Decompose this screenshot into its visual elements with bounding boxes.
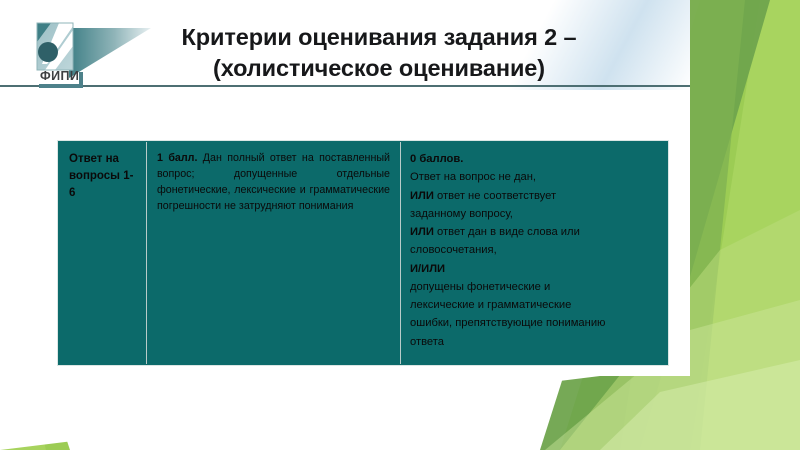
presentation-slide: ФИПИ Критерии оценивания задания 2 – (хо… xyxy=(0,0,800,450)
page-title: Критерии оценивания задания 2 – (холисти… xyxy=(96,22,662,85)
zero-points-line-text: ответ дан в виде слова или xyxy=(434,226,580,238)
zero-points-line-text: Ответ на вопрос не дан, xyxy=(410,171,536,183)
zero-points-line: Ответ на вопрос не дан, xyxy=(410,168,657,186)
zero-points-lead: 0 баллов. xyxy=(410,150,657,168)
criteria-table: Ответ на вопросы 1-6 1 балл. Дан полный … xyxy=(58,141,668,365)
zero-points-line: допущены фонетические и xyxy=(410,278,657,296)
logo-wordmark: ФИПИ xyxy=(40,69,79,83)
table-cell-question-scope: Ответ на вопросы 1-6 xyxy=(59,142,147,364)
zero-points-line-emphasis: И/ИЛИ xyxy=(410,263,445,275)
zero-points-line: И/ИЛИ xyxy=(410,260,657,278)
zero-points-line-text: допущены фонетические и xyxy=(410,281,550,293)
zero-points-line-text: ошибки, препятствующие пониманию xyxy=(410,317,605,329)
zero-points-line-text: ответ не соответствует xyxy=(434,190,556,202)
zero-points-line-text: лексические и грамматические xyxy=(410,299,571,311)
page-title-line-2: (холистическое оценивание) xyxy=(96,53,662,84)
zero-points-line: ИЛИ ответ не соответствует xyxy=(410,187,657,205)
zero-points-line-text: словосочетания, xyxy=(410,244,497,256)
table-cell-zero-points: 0 баллов. Ответ на вопрос не дан,ИЛИ отв… xyxy=(401,142,667,364)
zero-points-line-emphasis: ИЛИ xyxy=(410,226,434,238)
zero-points-line: лексические и грамматические xyxy=(410,296,657,314)
zero-points-body: Ответ на вопрос не дан,ИЛИ ответ не соот… xyxy=(410,168,657,351)
zero-points-line: ИЛИ ответ дан в виде слова или xyxy=(410,223,657,241)
zero-points-line-text: заданному вопросу, xyxy=(410,208,513,220)
question-scope-label: Ответ на вопросы 1-6 xyxy=(69,153,133,199)
zero-points-line: ответа xyxy=(410,333,657,351)
zero-points-line-text: ответа xyxy=(410,336,444,348)
one-point-lead: 1 балл. xyxy=(157,152,197,164)
zero-points-line: словосочетания, xyxy=(410,241,657,259)
zero-points-line-emphasis: ИЛИ xyxy=(410,190,434,202)
zero-points-line: ошибки, препятствующие пониманию xyxy=(410,314,657,332)
zero-points-line: заданному вопросу, xyxy=(410,205,657,223)
page-title-line-1: Критерии оценивания задания 2 – xyxy=(96,22,662,53)
table-cell-one-point: 1 балл. Дан полный ответ на поставленный… xyxy=(147,142,401,364)
